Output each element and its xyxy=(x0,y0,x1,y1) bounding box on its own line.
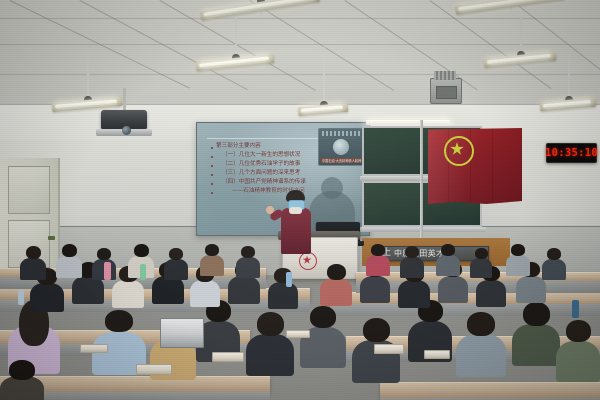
wall-equipment-box xyxy=(430,78,462,104)
audience-head xyxy=(9,360,35,380)
door-handle-icon[interactable] xyxy=(48,236,55,240)
flag-star-icon xyxy=(450,142,464,156)
audience-member xyxy=(400,246,424,276)
audience-torso xyxy=(556,341,600,382)
audience-member xyxy=(200,244,224,274)
audience-torso xyxy=(366,255,390,276)
water-bottle xyxy=(572,300,579,318)
bullet-dot-icon xyxy=(211,174,213,176)
audience-torso xyxy=(268,282,298,309)
audience-head xyxy=(257,312,284,336)
slide-bullet-text: 第三部分主要内容 xyxy=(216,143,261,150)
audience-torso xyxy=(506,255,530,276)
audience-head xyxy=(134,244,149,257)
slide-bullet-text: （二）几位优秀石油学子的故事 xyxy=(222,161,300,168)
bullet-dot-icon xyxy=(211,165,213,167)
audience-head xyxy=(511,244,525,256)
audience-head xyxy=(97,248,111,260)
textbook xyxy=(374,344,404,354)
light-rod xyxy=(568,48,570,100)
audience-head xyxy=(371,244,385,256)
audience-member xyxy=(506,244,530,274)
audience-member xyxy=(436,244,460,274)
presenter-body xyxy=(281,208,311,254)
bullet-dot-icon xyxy=(211,147,213,149)
audience-member xyxy=(236,246,260,276)
audience-torso xyxy=(516,276,546,303)
bullet-dot-icon xyxy=(211,192,213,194)
audience-torso xyxy=(72,276,104,304)
audience-member xyxy=(20,246,46,278)
textbook xyxy=(80,344,108,353)
audience-torso xyxy=(470,258,492,278)
clock-time: 10:35:10 xyxy=(545,147,598,159)
audience-member xyxy=(56,244,82,276)
audience-member xyxy=(542,248,566,278)
audience-head xyxy=(241,246,255,258)
light-tube xyxy=(301,105,343,113)
slide-corner-logo: 中国石油·大庆精神铁人精神 xyxy=(318,128,364,166)
slide-bullet-text: （三）几个方面问题的深来思考 xyxy=(222,170,300,177)
audience-torso xyxy=(56,256,82,278)
audience-torso xyxy=(190,280,220,307)
audience-torso xyxy=(228,276,260,304)
audience-torso xyxy=(436,255,460,276)
audience-torso xyxy=(400,257,424,278)
audience-torso xyxy=(542,259,566,280)
desk-row xyxy=(380,382,600,399)
presenter-hand xyxy=(266,206,274,214)
audience-head xyxy=(105,310,133,332)
presenter xyxy=(276,192,314,254)
audience-head xyxy=(566,320,591,342)
textbook xyxy=(286,330,310,338)
audience-head xyxy=(26,246,41,259)
audience-head xyxy=(205,244,219,256)
audience-member xyxy=(512,302,560,362)
audience-head xyxy=(363,318,390,342)
water-bottle xyxy=(18,290,24,305)
light-rod xyxy=(520,17,522,55)
audience-torso xyxy=(164,259,188,280)
audience-torso xyxy=(476,280,506,307)
water-bottle xyxy=(286,272,292,287)
audience-torso xyxy=(398,280,430,308)
audience-head xyxy=(310,306,336,328)
textbook xyxy=(212,352,244,362)
light-rod xyxy=(87,48,89,100)
audience-member xyxy=(320,264,352,304)
slide-bullet-text: （四）中国共产党精神谱系的传承 xyxy=(222,179,306,186)
audience-member xyxy=(0,360,44,400)
audience-head xyxy=(475,248,488,259)
textbook xyxy=(136,364,172,375)
bullet-dot-icon xyxy=(211,183,213,185)
audience-torso xyxy=(30,283,64,312)
audience-torso xyxy=(236,257,260,278)
audience-member xyxy=(92,310,146,372)
audience-torso xyxy=(438,276,468,303)
audience-torso xyxy=(152,276,184,304)
textbook xyxy=(424,350,450,359)
light-rod xyxy=(323,47,325,105)
light-tube xyxy=(543,100,591,108)
audience-torso xyxy=(456,334,506,377)
audience-head xyxy=(169,248,183,260)
audience-torso xyxy=(112,280,144,308)
flag-circle-icon xyxy=(444,136,474,166)
audience-torso xyxy=(512,324,560,366)
audience-torso xyxy=(246,334,294,376)
audience-head xyxy=(62,244,77,257)
audience-member xyxy=(268,268,298,306)
water-bottle xyxy=(104,262,111,280)
audience-torso xyxy=(320,278,352,306)
communist-youth-league-flag xyxy=(428,128,522,204)
audience-head xyxy=(405,246,419,258)
audience-member xyxy=(164,248,188,278)
audience-torso xyxy=(200,255,224,276)
flag-pole xyxy=(420,120,423,246)
slide-bullet-text: （一）几位大一新生的思想状况 xyxy=(222,152,300,159)
light-rod xyxy=(235,18,237,58)
water-bottle xyxy=(140,264,146,280)
audience-member xyxy=(556,320,600,378)
slide-logo-caption: 中国石油·大庆精神铁人精神 xyxy=(322,158,361,163)
lecture-hall-photograph: 第三部分主要内容（一）几位大一新生的思想状况（二）几位优秀石油学子的故事（三）几… xyxy=(0,0,600,400)
podium-star-emblem-icon xyxy=(299,252,317,270)
bullet-dot-icon xyxy=(211,156,213,158)
presenter-collar xyxy=(289,207,302,214)
student-laptop xyxy=(160,318,204,348)
blackboard-light xyxy=(366,120,450,125)
audience-head xyxy=(523,302,550,326)
digital-wall-clock: 10:35:10 xyxy=(546,143,597,163)
audience-torso xyxy=(360,276,390,303)
audience-head xyxy=(467,312,495,336)
audience-member xyxy=(366,244,390,274)
audience-head xyxy=(547,248,561,260)
audience-head xyxy=(441,244,455,256)
slide-bullet: （三）几个方面问题的深来思考 xyxy=(211,170,361,177)
audience-torso xyxy=(20,258,46,280)
audience-member xyxy=(470,248,492,276)
audience-member xyxy=(456,312,506,374)
audience-head xyxy=(327,264,346,280)
audience-member xyxy=(246,312,294,372)
